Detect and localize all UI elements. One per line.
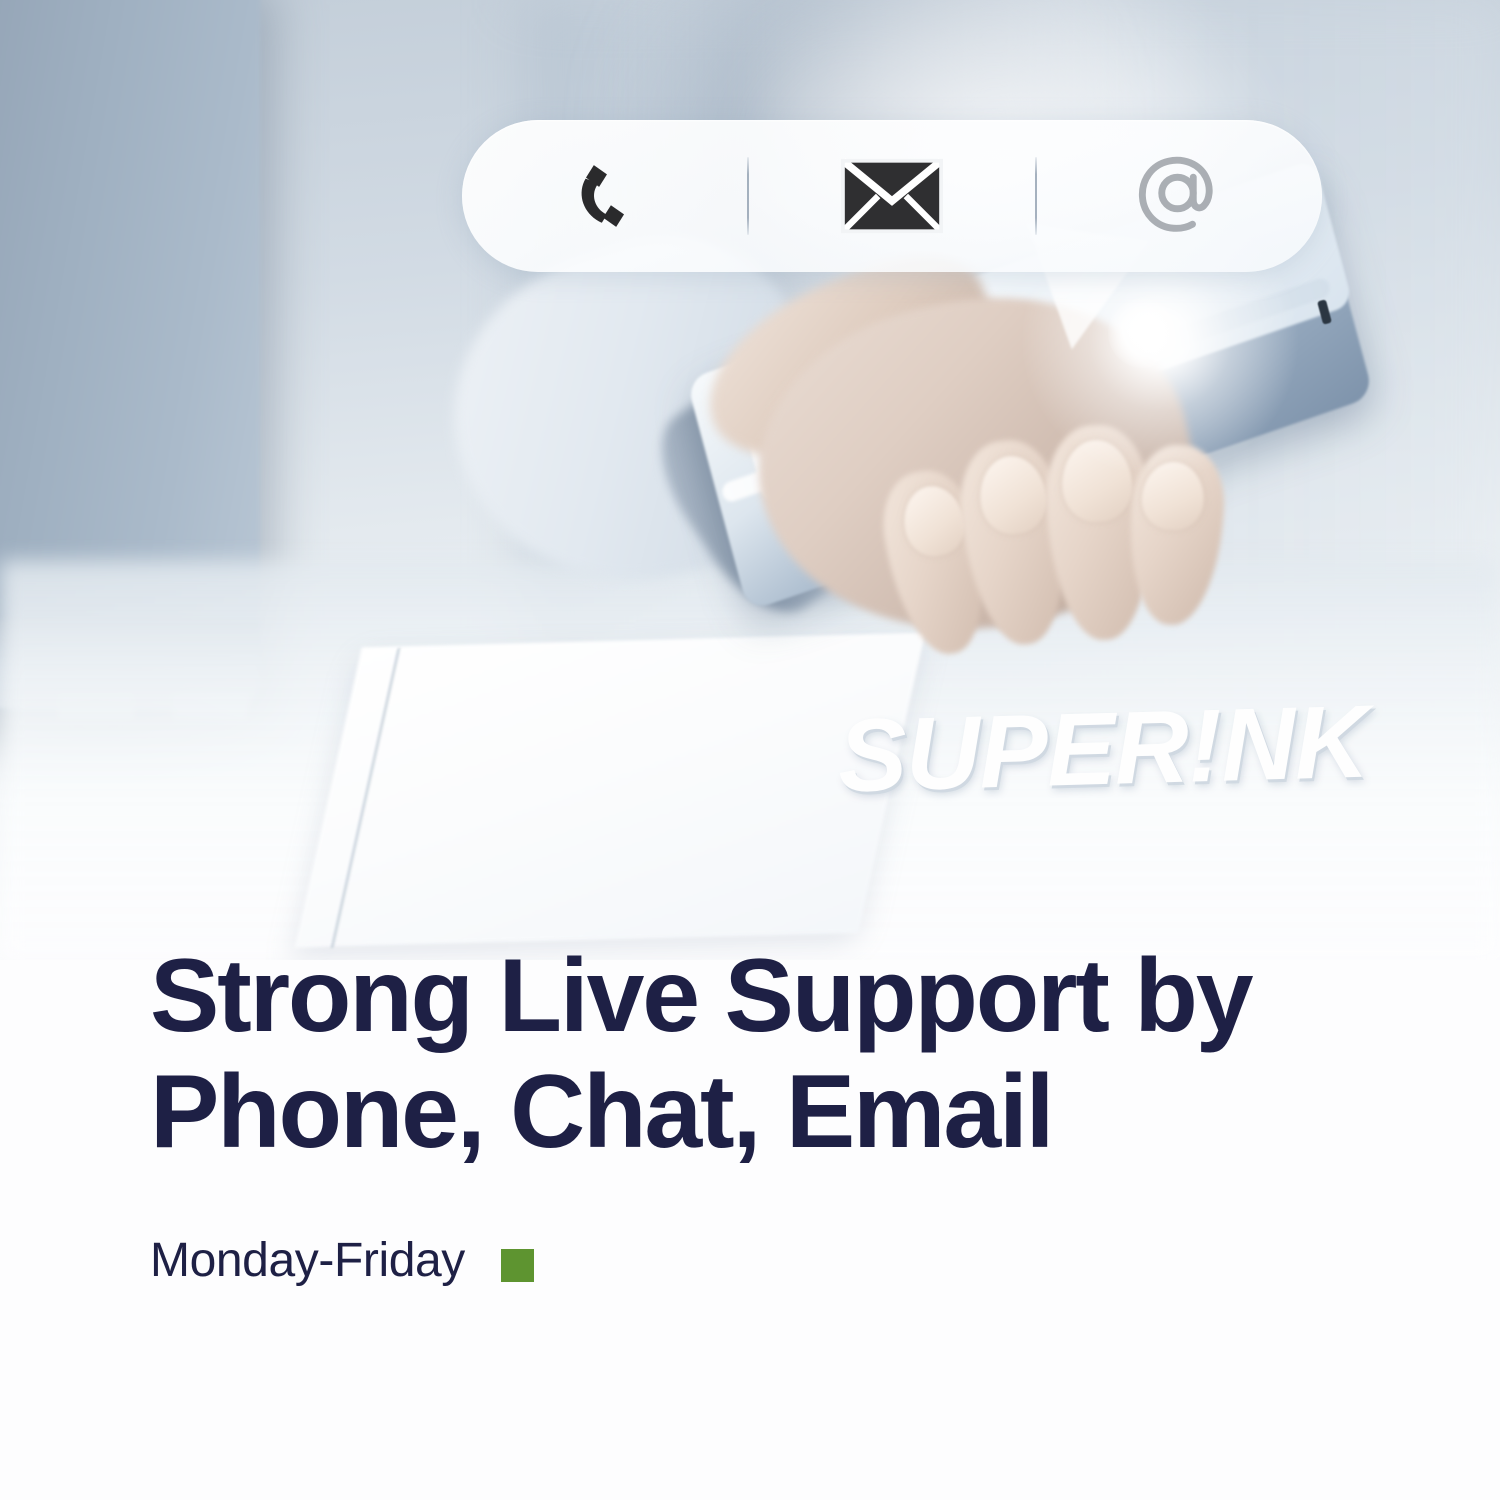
contact-methods-bar xyxy=(462,120,1322,272)
phone-icon xyxy=(563,154,647,238)
superink-watermark: SUPER!NK xyxy=(836,683,1369,816)
subtitle-row: Monday-Friday xyxy=(150,1233,1370,1288)
contact-method-email[interactable] xyxy=(749,120,1034,272)
support-banner: SUPER!NK Strong Live Support by Phone, C… xyxy=(0,0,1500,1500)
envelope-icon xyxy=(839,157,945,235)
text-block: Strong Live Support by Phone, Chat, Emai… xyxy=(150,938,1370,1288)
page-title: Strong Live Support by Phone, Chat, Emai… xyxy=(150,938,1370,1171)
contact-method-web[interactable] xyxy=(1037,120,1322,272)
contact-method-phone[interactable] xyxy=(462,120,747,272)
accent-square xyxy=(501,1249,534,1282)
at-sign-icon xyxy=(1131,148,1227,244)
availability-label: Monday-Friday xyxy=(150,1233,465,1288)
lens-flare-core xyxy=(1108,298,1178,368)
hero-photo: SUPER!NK xyxy=(0,0,1500,960)
